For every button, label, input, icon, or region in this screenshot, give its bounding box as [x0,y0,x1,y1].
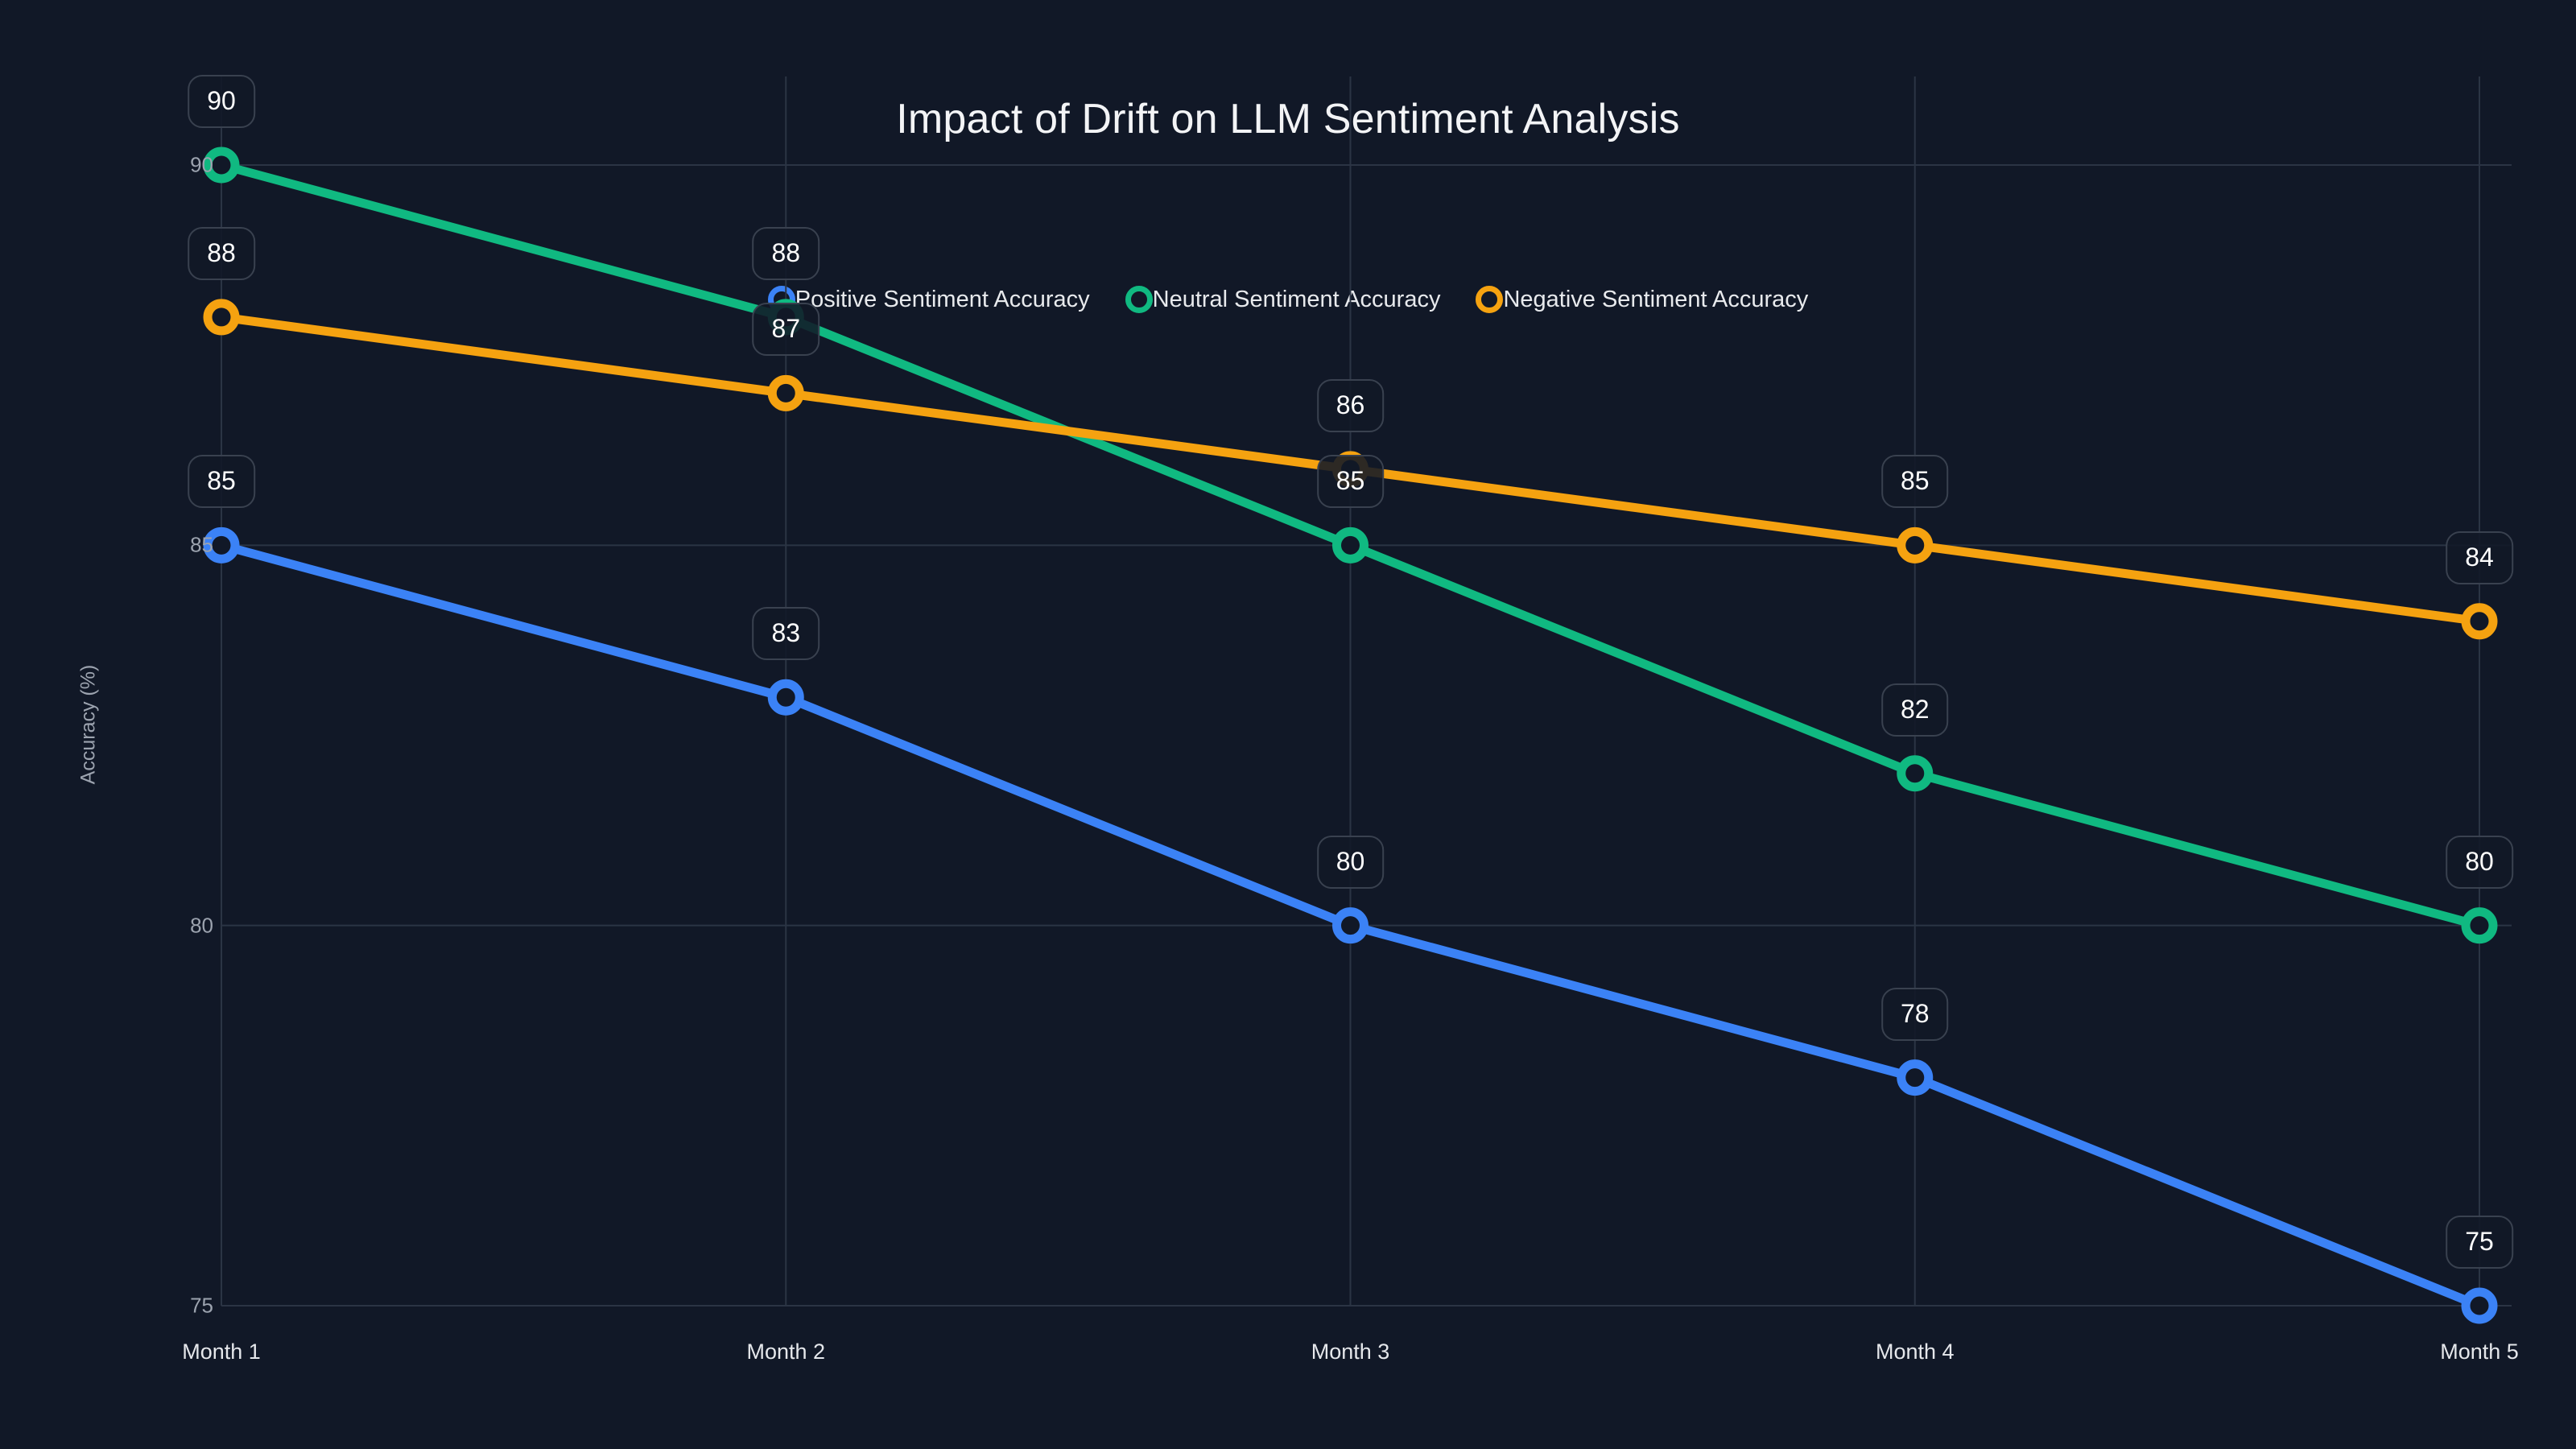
data-point-value-badge: 85 [1317,455,1385,508]
data-point-value-badge: 80 [1317,836,1385,889]
data-point-value-badge: 83 [752,607,819,660]
data-point-value-badge: 87 [752,303,819,356]
y-axis-title: Accuracy (%) [77,665,101,785]
data-point-marker[interactable] [1901,531,1929,559]
data-point-value-badge: 78 [1881,988,1949,1041]
y-axis-tick-label: 75 [141,1294,213,1319]
data-point-marker[interactable] [1337,912,1364,939]
data-point-value-badge: 85 [188,455,255,508]
data-point-value-badge: 82 [1881,683,1949,737]
data-point-marker[interactable] [2466,912,2493,939]
data-point-value-badge: 88 [188,227,255,280]
data-point-marker[interactable] [1901,1064,1929,1092]
y-axis-tick-label: 90 [141,153,213,178]
data-point-marker[interactable] [1337,531,1364,559]
data-point-value-badge: 90 [188,75,255,128]
x-axis-tick-label: Month 1 [101,1340,342,1364]
x-axis-tick-label: Month 4 [1794,1340,2036,1364]
data-point-value-badge: 85 [1881,455,1949,508]
data-point-value-badge: 84 [2446,531,2513,584]
data-point-value-badge: 86 [1317,379,1385,432]
data-point-value-badge: 80 [2446,836,2513,889]
data-point-marker[interactable] [772,379,799,407]
data-point-marker[interactable] [2466,608,2493,635]
chart-canvas: Impact of Drift on LLM Sentiment Analysi… [0,0,2576,1449]
data-point-value-badge: 88 [752,227,819,280]
x-axis-tick-label: Month 2 [665,1340,906,1364]
data-point-marker[interactable] [2466,1292,2493,1319]
y-axis-tick-label: 80 [141,913,213,938]
x-axis-tick-label: Month 5 [2359,1340,2576,1364]
y-axis-tick-label: 85 [141,533,213,558]
data-point-marker[interactable] [208,303,235,331]
line-chart-plot [0,0,2576,1449]
data-point-marker[interactable] [1901,760,1929,787]
data-point-marker[interactable] [772,683,799,711]
x-axis-tick-label: Month 3 [1230,1340,1472,1364]
data-point-value-badge: 75 [2446,1216,2513,1269]
